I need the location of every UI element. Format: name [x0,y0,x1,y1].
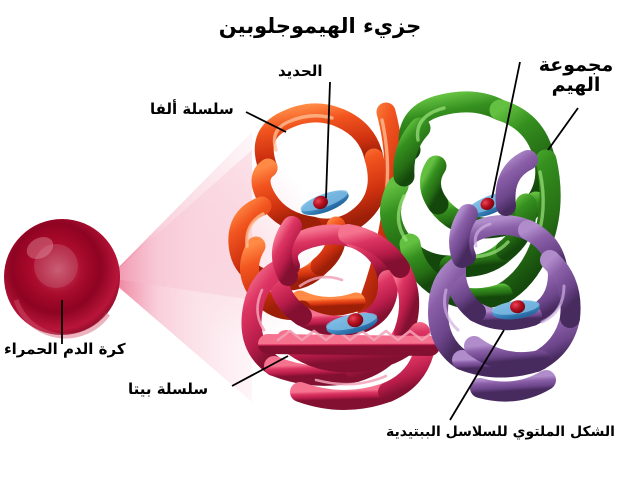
label-iron: الحديد [278,62,323,80]
label-beta-chain: سلسلة بيتا [128,380,208,398]
label-red-blood-cell: كرة الدم الحمراء [4,340,126,358]
figure-title: جزيء الهيموجلوبين [0,14,640,38]
label-heme-group-line1: مجموعة [520,56,632,76]
subunit-alpha-green [390,102,550,299]
label-heme-group: مجموعة الهيم [520,56,632,96]
leader-line-heme-surface [548,108,578,150]
label-coiled-peptide-chains: الشكل الملتوي للسلاسل الببتيدية [386,424,615,440]
figure-canvas: جزيء الهيموجلوبين الحديد سلسلة ألفا مجمو… [0,0,640,480]
leader-line-iron [326,82,330,198]
label-heme-group-line2: الهيم [520,76,632,96]
label-alpha-chain: سلسلة ألفا [150,100,234,118]
